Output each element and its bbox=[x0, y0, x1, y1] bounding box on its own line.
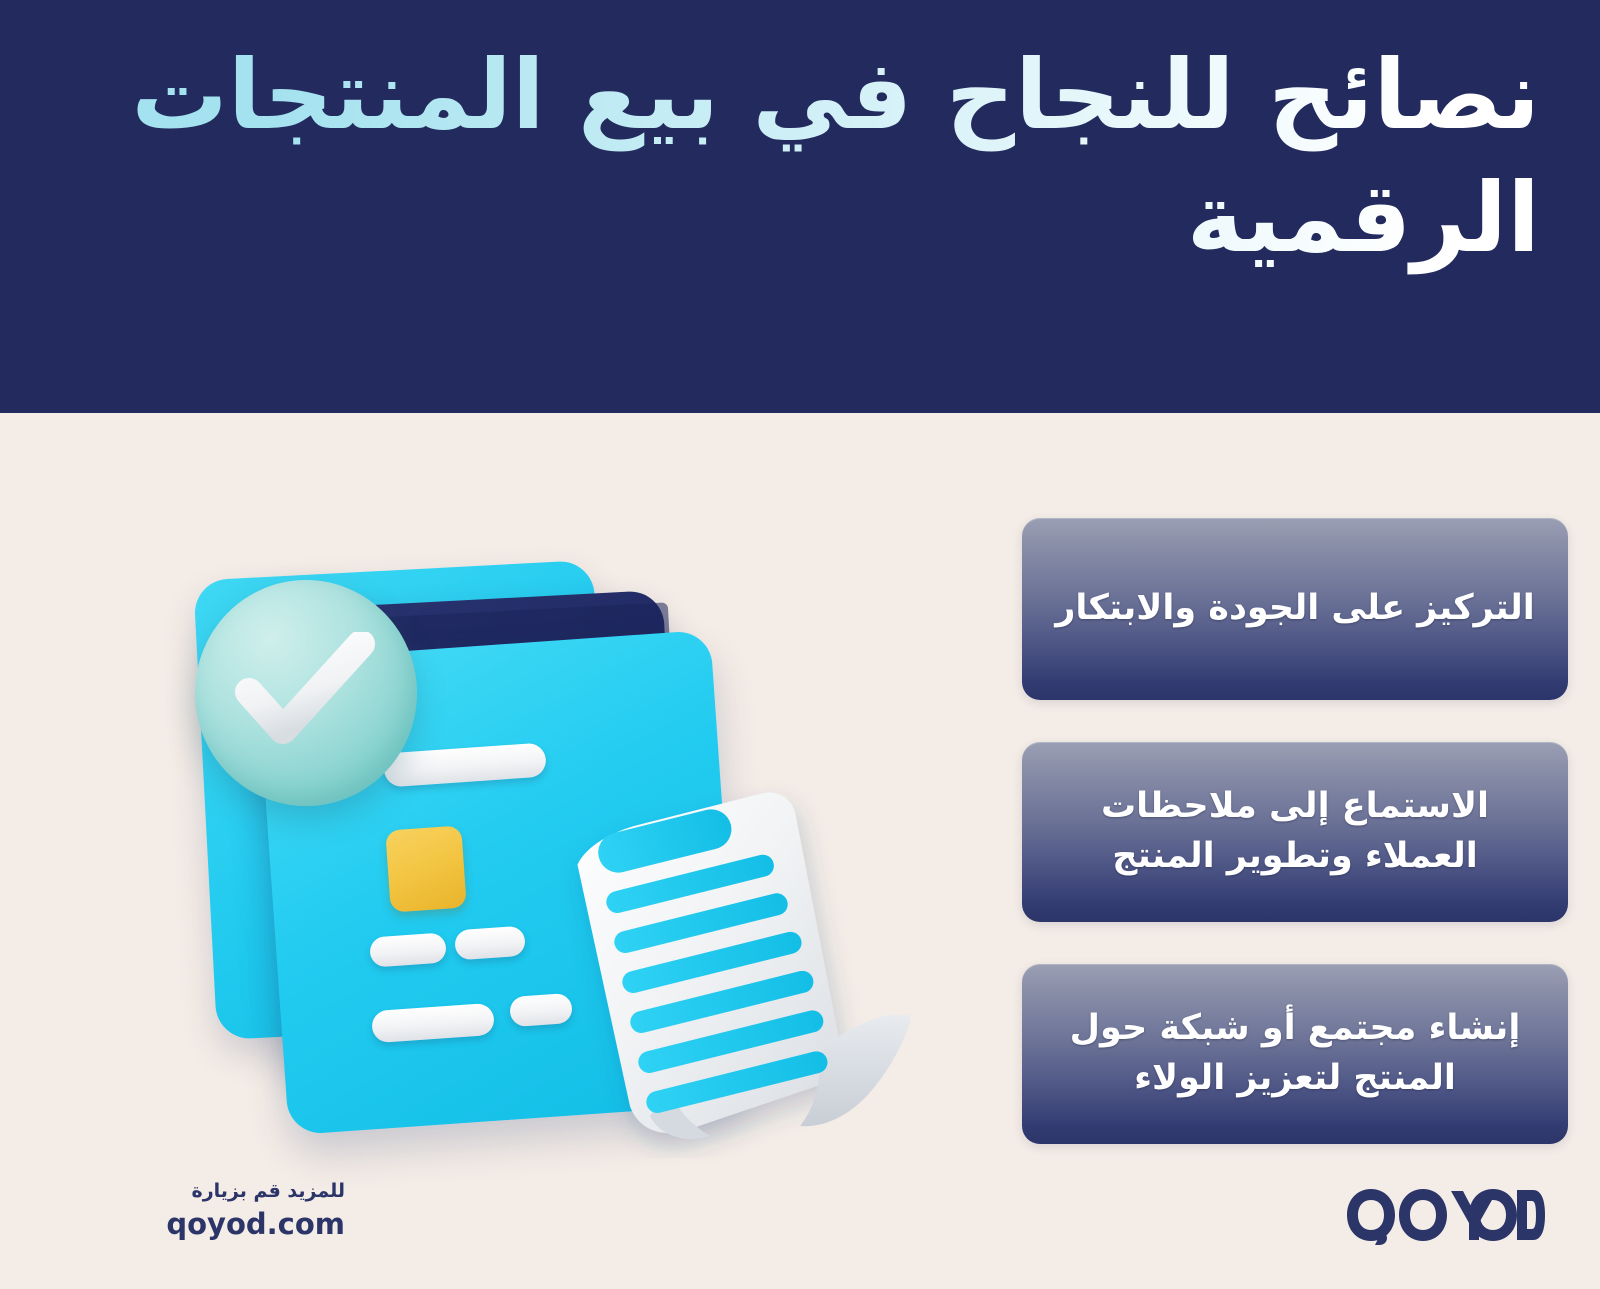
footer-visit-note: للمزيد قم بزيارة qoyod.com bbox=[45, 1178, 345, 1244]
header-banner: نصائح للنجاح في بيع المنتجات الرقمية bbox=[0, 0, 1600, 413]
tip-card-2[interactable]: الاستماع إلى ملاحظات العملاء وتطوير المن… bbox=[1022, 742, 1568, 922]
tips-list: التركيز على الجودة والابتكار الاستماع إل… bbox=[1022, 518, 1568, 1144]
hero-illustration bbox=[180, 540, 920, 1140]
tip-card-2-label: الاستماع إلى ملاحظات العملاء وتطوير المن… bbox=[1022, 782, 1568, 881]
receipt-icon bbox=[490, 738, 910, 1158]
qoyod-logo bbox=[1345, 1185, 1545, 1245]
footer-note-label: للمزيد قم بزيارة bbox=[45, 1178, 345, 1205]
page-title: نصائح للنجاح في بيع المنتجات الرقمية bbox=[40, 34, 1540, 280]
card-chip-icon bbox=[385, 825, 467, 912]
infographic-poster: نصائح للنجاح في بيع المنتجات الرقمية bbox=[0, 0, 1600, 1289]
verified-badge bbox=[195, 580, 417, 806]
tip-card-3[interactable]: إنشاء مجتمع أو شبكة حول المنتج لتعزيز ال… bbox=[1022, 964, 1568, 1144]
checkmark-icon bbox=[235, 632, 377, 752]
footer-website-url[interactable]: qoyod.com bbox=[45, 1205, 345, 1244]
tip-card-3-label: إنشاء مجتمع أو شبكة حول المنتج لتعزيز ال… bbox=[1022, 1004, 1568, 1103]
tip-card-1[interactable]: التركيز على الجودة والابتكار bbox=[1022, 518, 1568, 700]
card-line-bar-icon bbox=[369, 932, 447, 967]
tip-card-1-label: التركيز على الجودة والابتكار bbox=[1025, 584, 1565, 634]
